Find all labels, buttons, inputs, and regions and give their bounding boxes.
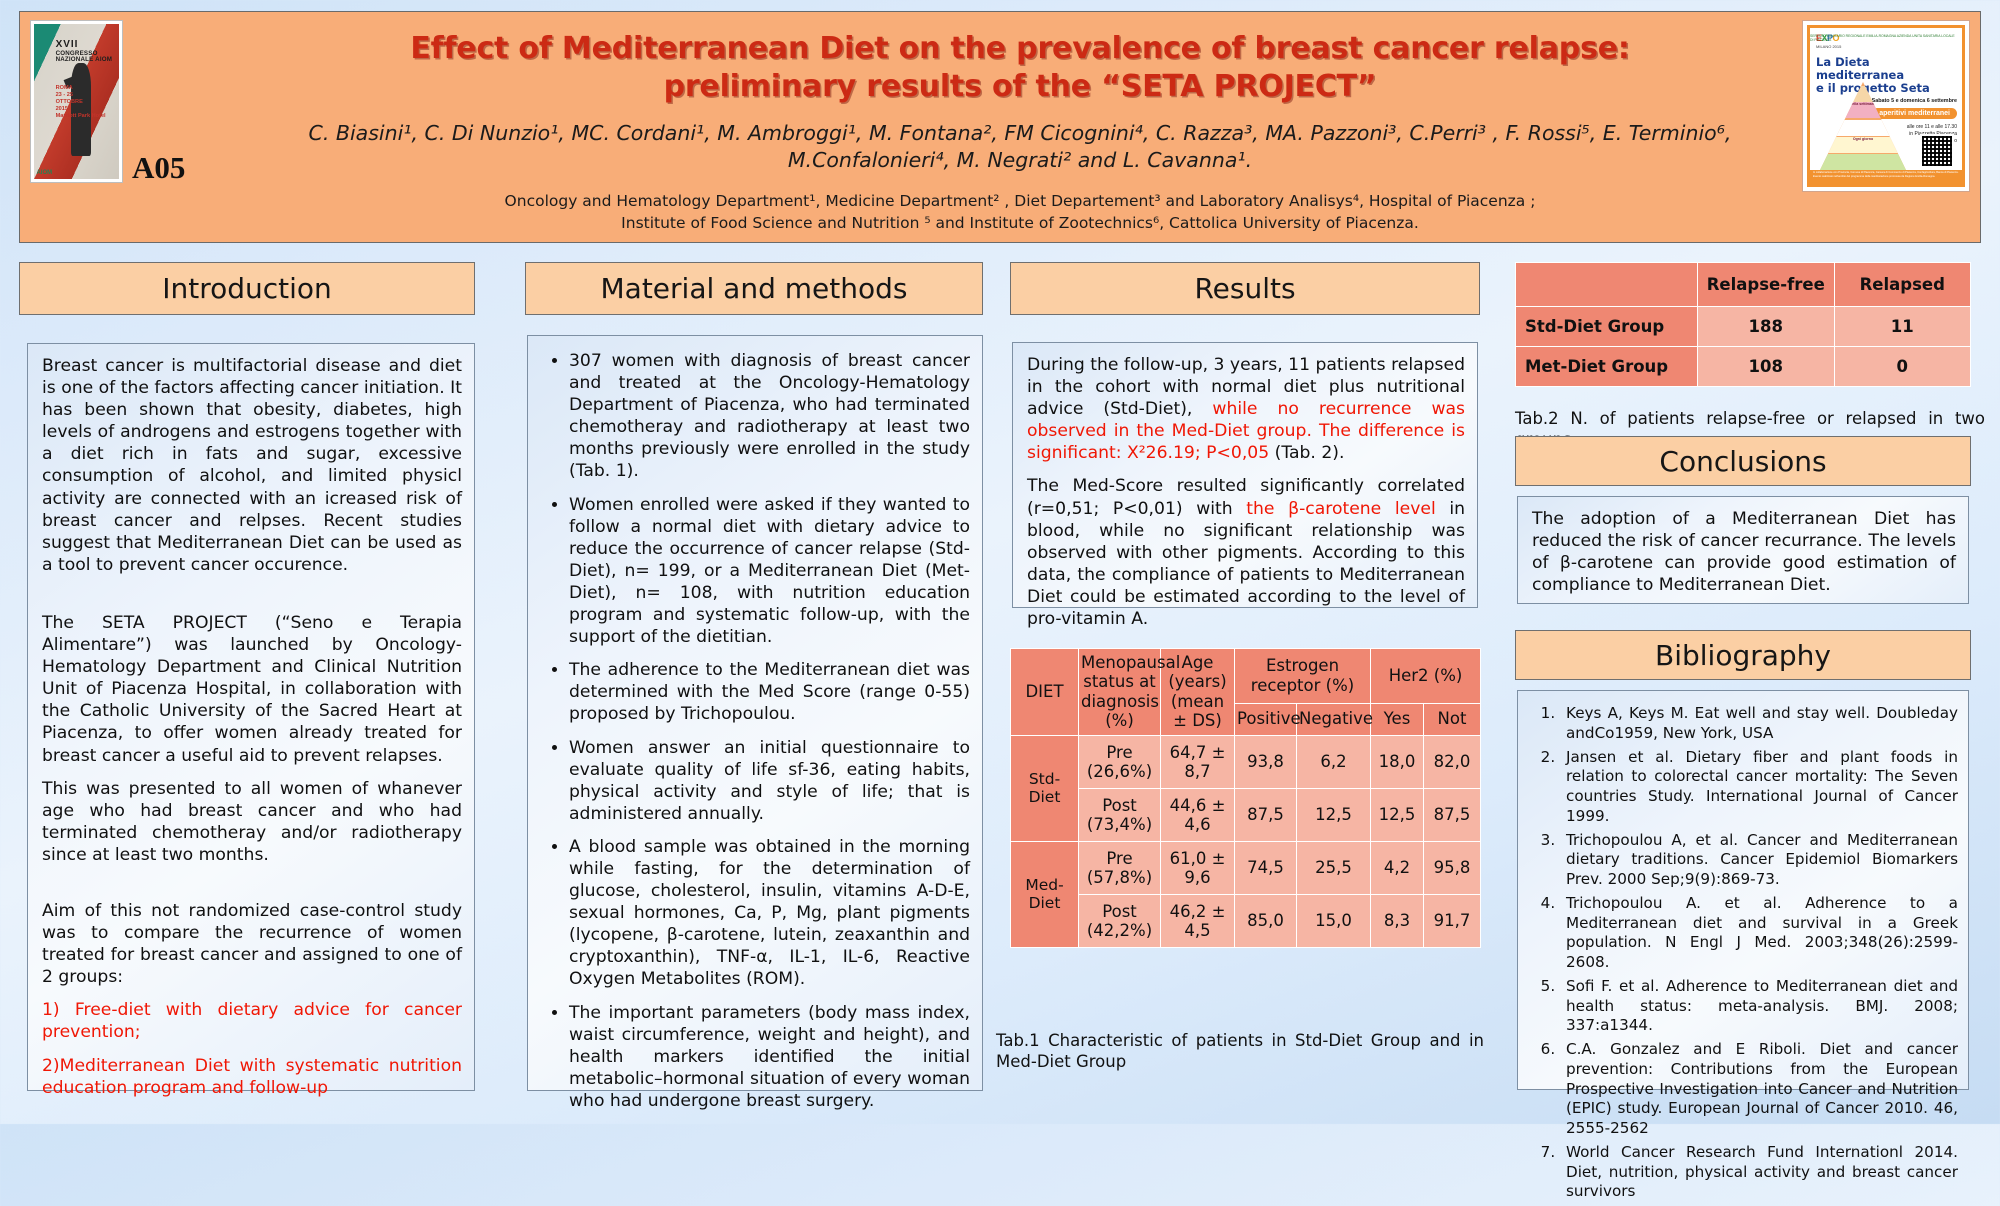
methods-bullet-5: A blood sample was obtained in the morni… — [569, 836, 970, 991]
table-row-header-group: DIET Menopausal status at diagnosis (%) … — [1011, 649, 1481, 704]
th-diet: DIET — [1011, 649, 1079, 736]
poster-header-banner: XVII CONGRESSO NAZIONALE AIOM ROMA 23 - … — [19, 11, 1981, 243]
th-her2: Her2 (%) — [1371, 649, 1481, 704]
health-service-logo: SERVIZIO SANITARIO REGIONALE EMILIA-ROMA… — [1810, 34, 1957, 43]
reference-list: Keys A, Keys M. Eat well and stay well. … — [1524, 704, 1958, 1202]
cell-er-negative: 6,2 — [1297, 735, 1371, 788]
pyramid-row-3 — [1820, 120, 1906, 136]
aiom-nazionale: NAZIONALE — [56, 56, 94, 63]
aiom-month: OTTOBRE — [56, 99, 106, 106]
list-item: Trichopoulou A. et al. Adherence to a Me… — [1560, 894, 1958, 973]
section-heading-material-and-methods: Material and methods — [525, 262, 983, 315]
section-heading-conclusions: Conclusions — [1515, 436, 1971, 486]
cell-her2-yes: 8,3 — [1371, 894, 1424, 947]
affiliation-line-1: Oncology and Hematology Department¹, Med… — [250, 190, 1790, 212]
cell-er-positive: 85,0 — [1235, 894, 1297, 947]
cell-er-negative: 25,5 — [1297, 841, 1371, 894]
table-row: Med-Diet Pre (57,8%) 61,0 ± 9,6 74,5 25,… — [1011, 841, 1481, 894]
cell-relapsed-highlight: 0 — [1834, 347, 1971, 387]
cell-er-negative: 12,5 — [1297, 788, 1371, 841]
list-item: World Cancer Research Fund Internationl … — [1560, 1143, 1958, 1202]
section-heading-bibliography: Bibliography — [1515, 630, 1971, 680]
th-relapse-free: Relapse-free — [1698, 263, 1835, 307]
expo-headline-line2: e il progetto Seta — [1816, 82, 1956, 95]
cell-relapse-free: 108 — [1698, 347, 1835, 387]
table-2-relapse-counts: Relapse-free Relapsed Std-Diet Group 188… — [1515, 262, 1971, 387]
cell-her2-not: 82,0 — [1424, 735, 1481, 788]
table-row: Met-Diet Group 108 0 — [1516, 347, 1971, 387]
th-her2-yes: Yes — [1371, 703, 1424, 735]
aiom-poster-text: XVII CONGRESSO NAZIONALE AIOM — [56, 40, 122, 64]
methods-bullet-2: Women enrolled were asked if they wanted… — [569, 494, 970, 649]
cell-relapse-free: 188 — [1698, 307, 1835, 347]
results-body: During the follow-up, 3 years, 11 patien… — [1027, 354, 1465, 641]
cell-age: 61,0 ± 9,6 — [1161, 841, 1235, 894]
list-item: Sofi F. et al. Adherence to Mediterranea… — [1560, 977, 1958, 1036]
cell-her2-not: 91,7 — [1424, 894, 1481, 947]
methods-bullet-3: The adherence to the Mediterranean diet … — [569, 659, 970, 725]
pyramid-row-5 — [1820, 154, 1906, 170]
table-1-caption: Tab.1 Characteristic of patients in Std-… — [996, 1030, 1484, 1073]
cell-menopausal: Pre (57,8%) — [1079, 841, 1161, 894]
expo-when-line1: alle ore 11 e alle 17.30 — [1907, 124, 1957, 131]
results-p2-red: the β-carotene level — [1246, 499, 1449, 519]
table-row: Std-Diet Pre (26,6%) 64,7 ± 8,7 93,8 6,2… — [1011, 735, 1481, 788]
panel-material-and-methods: 307 women with diagnosis of breast cance… — [527, 335, 983, 1091]
bibliography-body: Keys A, Keys M. Eat well and stay well. … — [1524, 704, 1958, 1206]
aiom-poster-details: ROMA 23 - 25 OTTOBRE 2015 Marriott Park … — [56, 85, 106, 120]
expo-footer-band: In collaborazione con Provincia, Comune … — [1810, 170, 1962, 184]
aiom-year: 2015 — [56, 106, 106, 113]
th-menopausal-status: Menopausal status at diagnosis (%) — [1079, 649, 1161, 736]
cell-er-positive: 74,5 — [1235, 841, 1297, 894]
cell-group-std-diet-group: Std-Diet Group — [1516, 307, 1698, 347]
table-row: Post (73,4%) 44,6 ± 4,6 87,5 12,5 12,5 8… — [1011, 788, 1481, 841]
page-title: Effect of Mediterranean Diet on the prev… — [250, 30, 1790, 107]
aiom-logo: AIOM — [36, 170, 52, 176]
methods-bullet-list: 307 women with diagnosis of breast cance… — [542, 350, 970, 1112]
th-relapsed: Relapsed — [1834, 263, 1971, 307]
conclusions-body: The adoption of a Mediterranean Diet has… — [1532, 508, 1956, 596]
cell-er-positive: 87,5 — [1235, 788, 1297, 841]
intro-paragraph-3: This was presented to all women of whane… — [42, 778, 462, 866]
panel-bibliography: Keys A, Keys M. Eat well and stay well. … — [1517, 690, 1969, 1090]
expo-footer-text: In collaborazione con Provincia, Comune … — [1813, 171, 1959, 178]
methods-body: 307 women with diagnosis of breast cance… — [542, 350, 970, 1123]
panel-introduction: Breast cancer is multifactorial disease … — [27, 343, 475, 1091]
section-heading-results: Results — [1010, 262, 1480, 315]
aiom-venue: Marriott Park Hotel — [56, 113, 106, 120]
cell-her2-yes: 4,2 — [1371, 841, 1424, 894]
aiom-name: AIOM — [95, 56, 112, 63]
table-row: Post (42,2%) 46,2 ± 4,5 85,0 15,0 8,3 91… — [1011, 894, 1481, 947]
cell-relapsed: 11 — [1834, 307, 1971, 347]
panel-conclusions: The adoption of a Mediterranean Diet has… — [1517, 496, 1969, 604]
qr-code — [1920, 134, 1954, 168]
list-item: Keys A, Keys M. Eat well and stay well. … — [1560, 704, 1958, 744]
intro-group-2: 2)Mediterranean Diet with systematic nut… — [42, 1055, 462, 1099]
expo-headline: La Dieta mediterranea e il progetto Seta — [1816, 56, 1956, 95]
cell-er-positive: 93,8 — [1235, 735, 1297, 788]
section-heading-introduction: Introduction — [19, 262, 475, 315]
author-line-1: C. Biasini¹, C. Di Nunzio¹, MC. Cordani¹… — [250, 120, 1790, 147]
affiliation-list: Oncology and Hematology Department¹, Med… — [250, 190, 1790, 235]
affiliation-line-2: Institute of Food Science and Nutrition … — [250, 212, 1790, 234]
abstract-code-label: A05 — [132, 150, 185, 186]
results-paragraph-1: During the follow-up, 3 years, 11 patien… — [1027, 354, 1465, 464]
th-estrogen-receptor: Estrogen receptor (%) — [1235, 649, 1371, 704]
th-her2-not: Not — [1424, 703, 1481, 735]
table-row: Std-Diet Group 188 11 — [1516, 307, 1971, 347]
expo-date-line: Sabato 5 e domenica 6 settembre — [1872, 98, 1957, 104]
intro-paragraph-2: The SETA PROJECT (“Seno e Terapia Alimen… — [42, 612, 462, 767]
aiom-city: ROMA — [56, 85, 106, 92]
cell-her2-not: 95,8 — [1424, 841, 1481, 894]
table-1-patient-characteristics: DIET Menopausal status at diagnosis (%) … — [1010, 648, 1481, 948]
cell-her2-yes: 12,5 — [1371, 788, 1424, 841]
methods-bullet-4: Women answer an initial questionnaire to… — [569, 737, 970, 825]
cell-her2-yes: 18,0 — [1371, 735, 1424, 788]
intro-paragraph-4: Aim of this not randomized case-control … — [42, 900, 462, 988]
aiom-congress-poster-image: XVII CONGRESSO NAZIONALE AIOM ROMA 23 - … — [30, 20, 123, 183]
results-p1-black-b: (Tab. 2). — [1275, 443, 1345, 463]
th-er-negative: Negative — [1297, 703, 1371, 735]
poster-title-line2: preliminary results of the “SETA PROJECT… — [250, 68, 1790, 106]
poster-title-line1: Effect of Mediterranean Diet on the prev… — [250, 30, 1790, 68]
expo-poster-inner: EXPO MILANO 2015 SERVIZIO SANITARIO REGI… — [1807, 25, 1965, 187]
list-item: Jansen et al. Dietary fiber and plant fo… — [1560, 748, 1958, 827]
cell-age: 44,6 ± 4,6 — [1161, 788, 1235, 841]
cell-menopausal: Pre (26,6%) — [1079, 735, 1161, 788]
introduction-body: Breast cancer is multifactorial disease … — [42, 355, 462, 1110]
methods-bullet-1: 307 women with diagnosis of breast cance… — [569, 350, 970, 483]
cell-menopausal: Post (73,4%) — [1079, 788, 1161, 841]
cell-group-met-diet-group: Met-Diet Group — [1516, 347, 1698, 387]
expo-event-pill: aperitivi mediterranei — [1872, 108, 1957, 119]
cell-age: 46,2 ± 4,5 — [1161, 894, 1235, 947]
author-line-2: M.Confalonieri⁴, M. Negrati² and L. Cava… — [250, 147, 1790, 174]
cell-group-std-diet: Std-Diet — [1011, 735, 1079, 841]
panel-results: During the follow-up, 3 years, 11 patien… — [1012, 342, 1478, 608]
expo-headline-line1: La Dieta mediterranea — [1816, 56, 1956, 82]
cell-group-med-diet: Med-Diet — [1011, 841, 1079, 947]
aiom-dates: 23 - 25 — [56, 92, 106, 99]
pyramid-label-day: Ogni giorno — [1820, 137, 1906, 141]
list-item: Trichopoulou A, et al. Cancer and Medite… — [1560, 831, 1958, 890]
food-pyramid-graphic: nella settimana Ogni giorno — [1820, 82, 1906, 170]
methods-bullet-6: The important parameters (body mass inde… — [569, 1002, 970, 1112]
table-row-header: Relapse-free Relapsed — [1516, 263, 1971, 307]
cell-age: 64,7 ± 8,7 — [1161, 735, 1235, 788]
cell-menopausal: Post (42,2%) — [1079, 894, 1161, 947]
intro-group-1: 1) Free-diet with dietary advice for can… — [42, 999, 462, 1043]
results-paragraph-2: The Med-Score resulted significantly cor… — [1027, 475, 1465, 630]
pyramid-row-4: Ogni giorno — [1820, 137, 1906, 153]
cell-her2-not: 87,5 — [1424, 788, 1481, 841]
cell-er-negative: 15,0 — [1297, 894, 1371, 947]
th-er-positive: Positive — [1235, 703, 1297, 735]
expo-logo-subtitle: MILANO 2015 — [1816, 44, 1841, 49]
intro-paragraph-1: Breast cancer is multifactorial disease … — [42, 355, 462, 576]
th-blank — [1516, 263, 1698, 307]
author-list: C. Biasini¹, C. Di Nunzio¹, MC. Cordani¹… — [250, 120, 1790, 174]
expo-seta-poster-image: EXPO MILANO 2015 SERVIZIO SANITARIO REGI… — [1802, 20, 1970, 192]
